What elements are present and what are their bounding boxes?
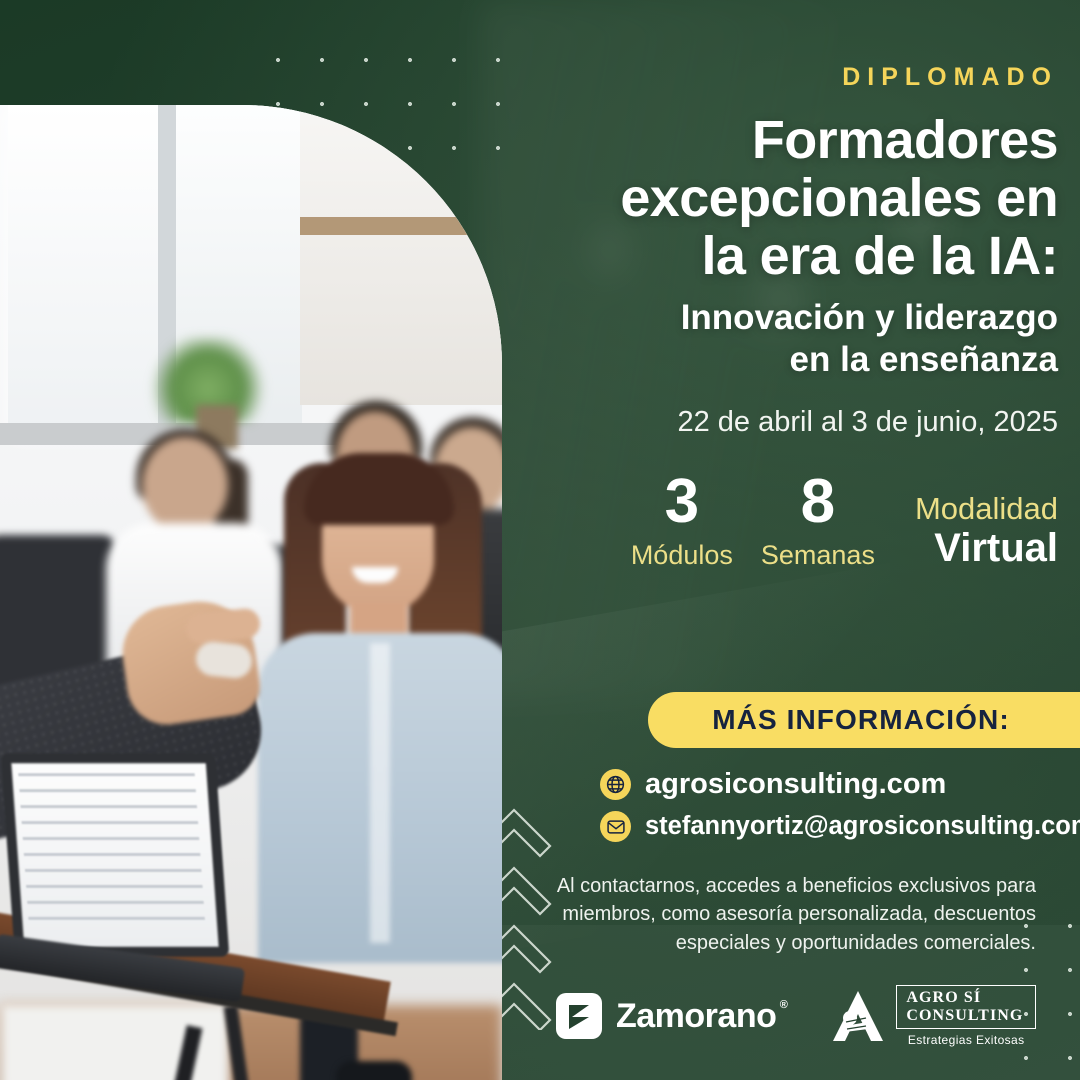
benefits-note: Al contactarnos, accedes a beneficios ex… <box>556 872 1036 957</box>
stat-modules-number: 3 <box>631 473 733 532</box>
zamorano-logo: Zamorano® <box>556 993 776 1039</box>
note-line-2: miembros, como asesoría personalizada, d… <box>556 900 1036 928</box>
subtitle-line-1: Innovación y liderazgo <box>560 297 1058 338</box>
modality-label: Modalidad <box>915 492 1058 526</box>
classroom-photo <box>0 105 502 1080</box>
more-info-label: MÁS INFORMACIÓN: <box>712 704 1010 736</box>
zamorano-wordmark: Zamorano® <box>616 997 776 1036</box>
contact-website[interactable]: agrosiconsulting.com <box>600 768 1080 801</box>
title-line-1: Formadores <box>560 112 1058 170</box>
more-info-banner[interactable]: MÁS INFORMACIÓN: <box>648 692 1080 748</box>
envelope-icon <box>600 811 631 842</box>
stat-weeks-number: 8 <box>761 473 875 532</box>
eyebrow-label: DIPLOMADO <box>560 63 1058 92</box>
agro-si-consulting-logo: AGRO SÍ CONSULTING Estrategias Exitosas <box>830 985 1036 1047</box>
course-dates: 22 de abril al 3 de junio, 2025 <box>560 406 1058 439</box>
promotional-flyer: DIPLOMADO Formadores excepcionales en la… <box>0 0 1080 1080</box>
stat-weeks: 8 Semanas <box>747 473 889 571</box>
globe-icon <box>600 769 631 800</box>
modality-value: Virtual <box>915 526 1058 571</box>
page-title: Formadores excepcionales en la era de la… <box>560 112 1058 285</box>
contact-list: agrosiconsulting.com stefannyortiz@agros… <box>600 768 1080 852</box>
title-line-2: excepcionales en <box>560 170 1058 228</box>
website-text: agrosiconsulting.com <box>645 768 946 801</box>
stat-weeks-label: Semanas <box>761 540 875 571</box>
stat-modules-label: Módulos <box>631 540 733 571</box>
zamorano-name: Zamorano <box>616 997 776 1035</box>
agro-tagline: Estrategias Exitosas <box>908 1033 1025 1047</box>
note-line-1: Al contactarnos, accedes a beneficios ex… <box>556 872 1036 900</box>
stat-modality: Modalidad Virtual <box>889 492 1058 571</box>
zamorano-mark-icon <box>556 993 602 1039</box>
agro-triangle-icon <box>830 988 886 1044</box>
note-line-3: especiales y oportunidades comerciales. <box>556 929 1036 957</box>
page-subtitle: Innovación y liderazgo en la enseñanza <box>560 297 1058 380</box>
stats-row: 3 Módulos 8 Semanas Modalidad Virtual <box>560 473 1058 571</box>
agro-text-block: AGRO SÍ CONSULTING Estrategias Exitosas <box>896 985 1036 1047</box>
contact-email[interactable]: stefannyortiz@agrosiconsulting.com <box>600 811 1080 842</box>
subtitle-line-2: en la enseñanza <box>560 339 1058 380</box>
agro-name: AGRO SÍ CONSULTING <box>896 985 1036 1029</box>
title-line-3: la era de la IA: <box>560 228 1058 286</box>
email-text: stefannyortiz@agrosiconsulting.com <box>645 812 1080 841</box>
logo-row: Zamorano® AGRO SÍ CONSULTING Estrategias… <box>556 980 1036 1052</box>
zamorano-trademark: ® <box>780 999 788 1011</box>
stat-modules: 3 Módulos <box>617 473 747 571</box>
